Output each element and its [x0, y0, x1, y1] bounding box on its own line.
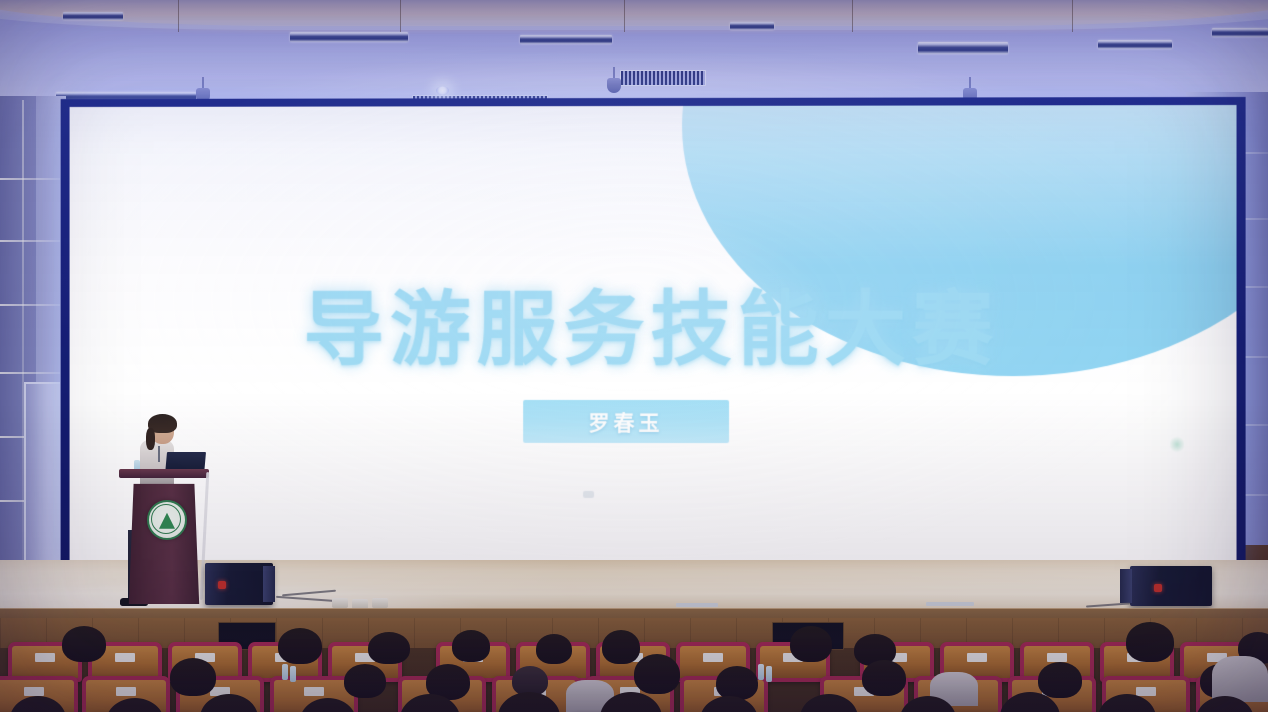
water-bottle — [282, 664, 288, 680]
slide-title: 导游服务技能大赛 — [70, 264, 1237, 382]
audience-head — [634, 654, 680, 694]
ceiling-grille — [620, 70, 706, 86]
slide-artifact — [1170, 436, 1184, 452]
audience-head — [1038, 662, 1082, 698]
seat-number-plate — [703, 653, 723, 662]
stage-monitor-side — [1120, 569, 1132, 603]
stage-monitor-side — [263, 566, 275, 602]
stage-panel-seam — [624, 0, 625, 32]
ceiling-vent — [290, 32, 408, 42]
audience-head — [716, 666, 758, 700]
monitor-led-icon — [218, 581, 226, 589]
audience-head — [602, 630, 640, 664]
water-bottle — [758, 664, 764, 680]
audience-head — [170, 658, 216, 696]
wall-panel-seam — [0, 304, 60, 306]
stage-panel-seam — [400, 0, 401, 32]
audience-head — [862, 660, 906, 696]
audience-head — [790, 626, 832, 662]
auditorium-scene: 导游服务技能大赛 罗春玉 — [0, 0, 1268, 712]
audience-head — [278, 628, 322, 664]
audience-shoulders — [1212, 656, 1268, 702]
podium-top — [119, 469, 209, 478]
audience-head — [452, 630, 490, 662]
slide-presenter-name: 罗春玉 — [589, 406, 664, 436]
slide-canvas: 导游服务技能大赛 罗春玉 — [70, 105, 1237, 564]
hanging-speaker-icon — [607, 78, 621, 93]
audience-head — [368, 632, 410, 664]
ceiling-vent — [1098, 40, 1172, 49]
presenter-hair-strand — [146, 428, 155, 450]
water-bottle — [766, 666, 772, 682]
slide-presenter-box: 罗春玉 — [523, 400, 729, 443]
stage-floor-object — [332, 598, 348, 608]
wall-panel-seam — [0, 372, 60, 374]
water-bottle — [290, 666, 296, 682]
ceiling-cove-inner — [0, 0, 1268, 30]
audience-head — [1126, 622, 1174, 662]
wall-panel-seam — [0, 240, 60, 242]
seat-number-plate — [304, 687, 324, 696]
stage-monitor-speaker — [1130, 566, 1212, 606]
ceiling-downlight — [436, 86, 449, 95]
ceiling — [0, 0, 1268, 104]
wall-panel-seam — [0, 178, 60, 180]
monitor-led-icon — [1154, 584, 1162, 592]
projection-screen[interactable]: 导游服务技能大赛 罗春玉 — [61, 97, 1246, 573]
ceiling-vent — [1212, 28, 1268, 37]
seat-number-plate — [35, 653, 55, 662]
seat-number-plate — [967, 653, 987, 662]
stage-floor-object — [372, 598, 388, 608]
stage-panel-seam — [1072, 0, 1073, 32]
ceiling-vent — [63, 12, 123, 20]
audience-head — [344, 664, 386, 698]
stage-floor-marker — [926, 602, 974, 606]
stage-panel-seam — [852, 0, 853, 32]
seat-number-plate — [115, 653, 135, 662]
seat-number-plate — [1136, 687, 1156, 696]
ceiling-vent — [730, 22, 774, 30]
ceiling-vent — [918, 42, 1008, 54]
stage-floor-marker — [676, 603, 718, 607]
audience-head — [62, 626, 106, 662]
podium-emblem-ring — [151, 504, 181, 534]
audience-head — [536, 634, 572, 664]
ceiling-vent — [520, 35, 612, 44]
seat-number-plate — [116, 687, 136, 696]
seat-number-plate — [24, 687, 44, 696]
slide-artifact — [583, 491, 594, 498]
microphone-icon — [158, 446, 160, 462]
audience-area — [0, 618, 1268, 712]
stage-panel-seam — [178, 0, 179, 32]
seat-number-plate — [1047, 653, 1067, 662]
